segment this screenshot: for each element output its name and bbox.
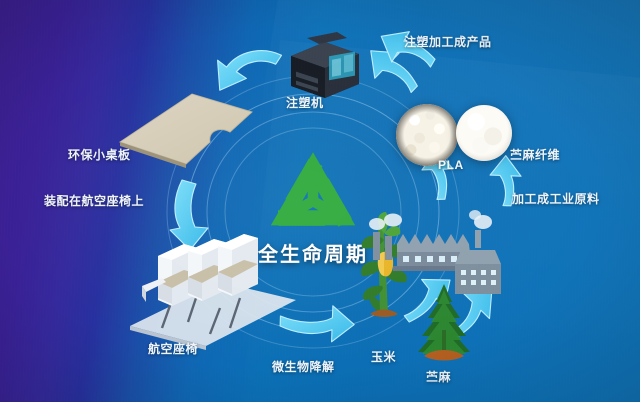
pla-pellets-photo bbox=[396, 104, 458, 166]
molded-into-products-label: 注塑加工成产品 bbox=[404, 33, 492, 50]
pla-label: PLA bbox=[438, 158, 464, 172]
ramie-fiber-label: 苎麻纤维 bbox=[510, 146, 560, 163]
infographic-canvas: 全生命周期 bbox=[0, 0, 640, 402]
ramie-fiber-photo bbox=[456, 105, 512, 161]
processed-raw-material-label: 加工成工业原料 bbox=[512, 190, 600, 207]
